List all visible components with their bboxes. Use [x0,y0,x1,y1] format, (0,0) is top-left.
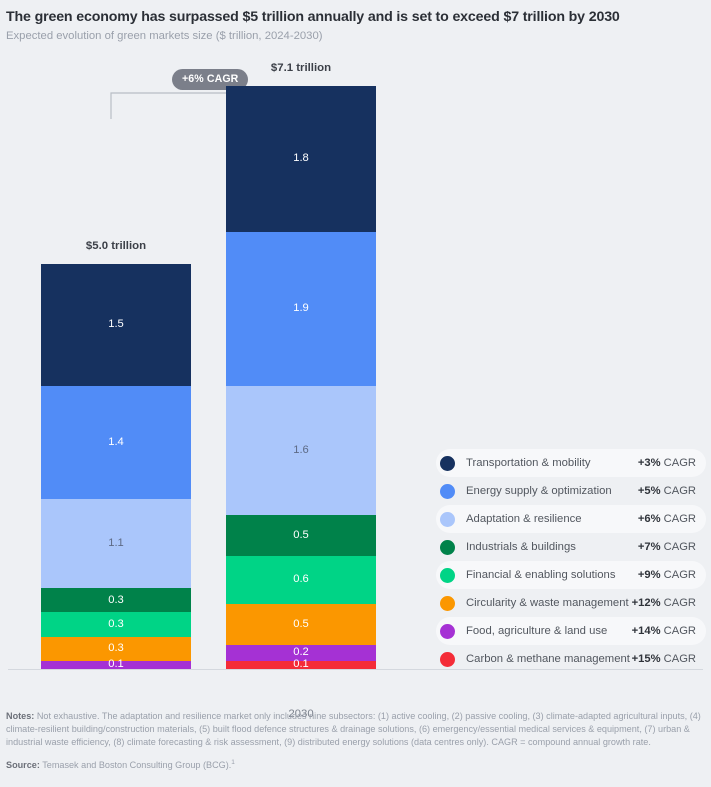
legend-color-swatch-icon [440,652,455,667]
bar-segment[interactable]: 1.5 [41,264,191,386]
source-block: Source: Temasek and Boston Consulting Gr… [6,759,705,770]
legend-item-cagr: +6% CAGR [638,513,696,525]
legend-item-cagr: +15% CAGR [632,653,696,665]
bar-segment-value: 0.3 [108,619,124,630]
legend-color-swatch-icon [440,540,455,555]
legend-item-cagr: +14% CAGR [632,625,696,637]
legend-item-cagr: +12% CAGR [632,597,696,609]
legend-color-swatch-icon [440,456,455,471]
legend-item-label: Adaptation & resilience [466,513,638,525]
bar-segment-value: 0.2 [293,647,309,658]
notes-text: Not exhaustive. The adaptation and resil… [6,711,701,747]
chart-header: The green economy has surpassed $5 trill… [6,8,705,44]
legend-item-label: Energy supply & optimization [466,485,638,497]
legend-item-5[interactable]: Financial & enabling solutions+9% CAGR [436,561,706,589]
bar-segment-value: 0.1 [108,659,124,670]
legend-color-swatch-icon [440,624,455,639]
legend-item-label: Transportation & mobility [466,457,638,469]
bar-segment[interactable]: 1.9 [226,232,376,386]
bar-total-label-2024: $5.0 trillion [41,240,191,252]
bar-segment[interactable]: 0.3 [41,637,191,661]
legend-item-1[interactable]: Transportation & mobility+3% CAGR [436,449,706,477]
bar-segment[interactable]: 0.5 [226,515,376,556]
bar-segment[interactable]: 0.6 [226,556,376,605]
legend-item-label: Circularity & waste management [466,597,632,609]
legend-item-label: Financial & enabling solutions [466,569,638,581]
bar-segment-value: 1.9 [293,303,309,314]
legend-color-swatch-icon [440,568,455,583]
bar-segment-value: 0.5 [293,619,309,630]
legend-item-cagr: +3% CAGR [638,457,696,469]
legend-item-cagr: +7% CAGR [638,541,696,553]
legend-item-cagr: +5% CAGR [638,485,696,497]
bar-segment[interactable]: 1.6 [226,386,376,516]
page-title: The green economy has surpassed $5 trill… [6,8,705,26]
legend-item-2[interactable]: Energy supply & optimization+5% CAGR [436,477,706,505]
source-text: Temasek and Boston Consulting Group (BCG… [40,760,231,770]
chart-page: The green economy has surpassed $5 trill… [0,0,711,787]
bar-segment-value: 1.1 [108,538,124,549]
bar-segment-value: 0.3 [108,595,124,606]
chart-footer: Notes: Not exhaustive. The adaptation an… [6,710,705,770]
bar-group-2024: $5.0 trillion 1.51.41.10.30.30.30.1 2024 [41,264,191,669]
legend-item-cagr: +9% CAGR [638,569,696,581]
bar-segment-value: 0.3 [108,643,124,654]
bar-segment[interactable]: 0.5 [226,604,376,645]
source-label: Source: [6,760,40,770]
legend-item-8[interactable]: Carbon & methane management+15% CAGR [436,645,706,673]
legend-item-4[interactable]: Industrials & buildings+7% CAGR [436,533,706,561]
bar-segment[interactable]: 0.3 [41,588,191,612]
bar-segment[interactable]: 0.1 [41,661,191,669]
legend-item-7[interactable]: Food, agriculture & land use+14% CAGR [436,617,706,645]
notes-block: Notes: Not exhaustive. The adaptation an… [6,710,705,750]
bar-segment[interactable]: 0.3 [41,612,191,636]
bar-segment-value: 1.6 [293,445,309,456]
bar-group-2030: $7.1 trillion 1.81.91.60.50.60.50.20.1 2… [226,86,376,669]
stacked-bar-2030[interactable]: 1.81.91.60.50.60.50.20.1 [226,86,376,669]
legend-color-swatch-icon [440,484,455,499]
legend-item-label: Food, agriculture & land use [466,625,632,637]
bar-segment[interactable]: 1.8 [226,86,376,232]
bar-segment-value: 0.5 [293,530,309,541]
legend-item-3[interactable]: Adaptation & resilience+6% CAGR [436,505,706,533]
legend-color-swatch-icon [440,512,455,527]
bar-segment-value: 0.6 [293,574,309,585]
stacked-bar-2024[interactable]: 1.51.41.10.30.30.30.1 [41,264,191,669]
legend-color-swatch-icon [440,596,455,611]
bar-segment-value: 1.8 [293,153,309,164]
legend-item-6[interactable]: Circularity & waste management+12% CAGR [436,589,706,617]
page-subtitle: Expected evolution of green markets size… [6,29,705,44]
source-footnote-marker: 1 [231,759,235,766]
bar-segment[interactable]: 1.1 [41,499,191,588]
bar-segment-value: 0.1 [293,659,309,670]
bar-segment[interactable]: 0.1 [226,661,376,669]
legend-item-label: Carbon & methane management [466,653,632,665]
bar-segment[interactable]: 1.4 [41,386,191,499]
chart-legend: Transportation & mobility+3% CAGREnergy … [436,449,706,673]
legend-item-label: Industrials & buildings [466,541,638,553]
notes-label: Notes: [6,711,34,721]
bar-segment-value: 1.4 [108,437,124,448]
bar-segment-value: 1.5 [108,319,124,330]
bar-total-label-2030: $7.1 trillion [226,62,376,74]
